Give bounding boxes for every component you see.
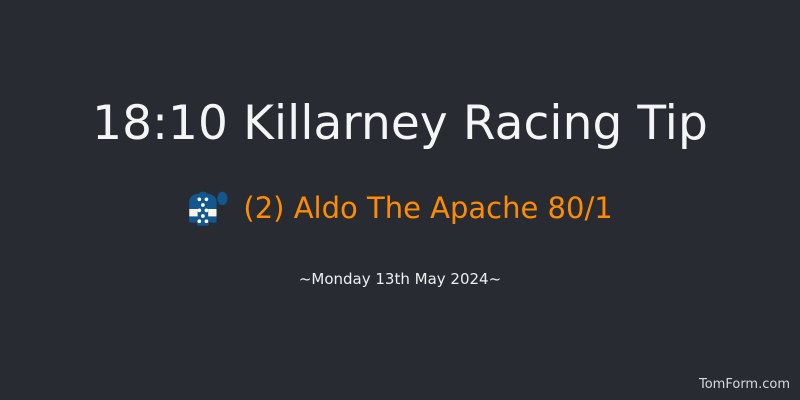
- title-row: 18:10 Killarney Racing Tip: [0, 96, 800, 152]
- page-title: 18:10 Killarney Racing Tip: [92, 96, 708, 152]
- race-date: ~Monday 13th May 2024~: [299, 269, 501, 289]
- racing-tip-card: 18:10 Killarney Racing Tip: [0, 0, 800, 400]
- jockey-silk-icon: [187, 189, 229, 229]
- selection-row: (2) Aldo The Apache 80/1: [0, 186, 800, 228]
- selection-label: (2) Aldo The Apache 80/1: [243, 188, 612, 228]
- date-row: ~Monday 13th May 2024~: [0, 269, 800, 289]
- site-watermark: TomForm.com: [699, 377, 790, 393]
